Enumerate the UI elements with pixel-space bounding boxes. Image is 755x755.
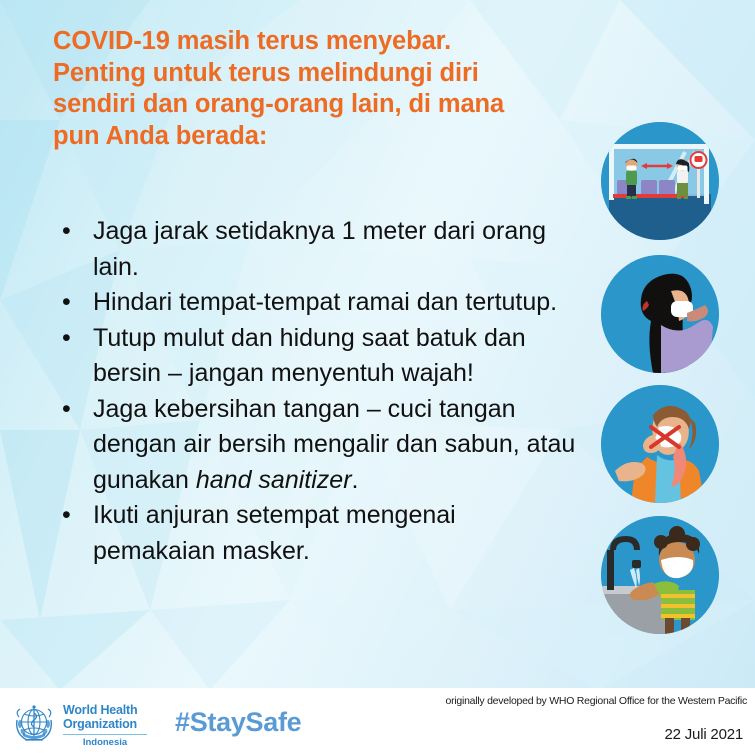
credit-text: originally developed by WHO Regional Off…	[445, 695, 747, 707]
who-name-line-1: World Health	[63, 704, 147, 718]
bullet-dot-icon: •	[62, 498, 71, 534]
poster-heading: COVID-19 masih terus menyebar. Penting u…	[53, 26, 573, 152]
poster-canvas: COVID-19 masih terus menyebar. Penting u…	[0, 0, 755, 755]
bullet-dot-icon: •	[62, 285, 71, 321]
list-item-text: Jaga jarak setidaknya 1 meter dari orang…	[93, 214, 576, 285]
who-emblem-icon	[10, 700, 58, 748]
illustration-wearing-mask	[601, 255, 719, 373]
illustration-physical-distancing-bus-stop	[601, 122, 719, 240]
who-name-line-2: Organization	[63, 718, 147, 732]
bullet-dot-icon: •	[62, 321, 71, 357]
emphasis-hand-sanitizer: hand sanitizer	[196, 466, 352, 494]
list-item: • Jaga kebersihan tangan – cuci tangan d…	[56, 392, 576, 499]
list-item-text: Tutup mulut dan hidung saat batuk dan be…	[93, 321, 576, 392]
staysafe-hashtag: #StaySafe	[175, 707, 301, 738]
heading-line-1: COVID-19 masih terus menyebar.	[53, 26, 573, 58]
advice-list: • Jaga jarak setidaknya 1 meter dari ora…	[56, 214, 576, 569]
heading-line-2: Penting untuk terus melindungi diri	[53, 58, 573, 90]
list-item-text: Ikuti anjuran setempat mengenai pemakaia…	[93, 498, 576, 569]
illustration-handwashing-at-sink	[601, 516, 719, 634]
list-item: • Tutup mulut dan hidung saat batuk dan …	[56, 321, 576, 392]
list-item-text: Hindari tempat-tempat ramai dan tertutup…	[93, 285, 576, 321]
heading-line-4: pun Anda berada:	[53, 121, 573, 153]
bullet-dot-icon: •	[62, 214, 71, 250]
list-item-text: Jaga kebersihan tangan – cuci tangan den…	[93, 392, 576, 499]
publication-date: 22 Juli 2021	[665, 726, 744, 743]
list-item: • Ikuti anjuran setempat mengenai pemaka…	[56, 498, 576, 569]
who-logo: World Health Organization Indonesia	[10, 700, 147, 748]
list-item: • Hindari tempat-tempat ramai dan tertut…	[56, 285, 576, 321]
bullet-dot-icon: •	[62, 392, 71, 428]
list-item: • Jaga jarak setidaknya 1 meter dari ora…	[56, 214, 576, 285]
illustration-cover-cough-no-face-touch	[601, 385, 719, 503]
heading-line-3: sendiri dan orang-orang lain, di mana	[53, 89, 573, 121]
who-logo-divider	[63, 734, 147, 736]
who-country-label: Indonesia	[63, 737, 147, 748]
